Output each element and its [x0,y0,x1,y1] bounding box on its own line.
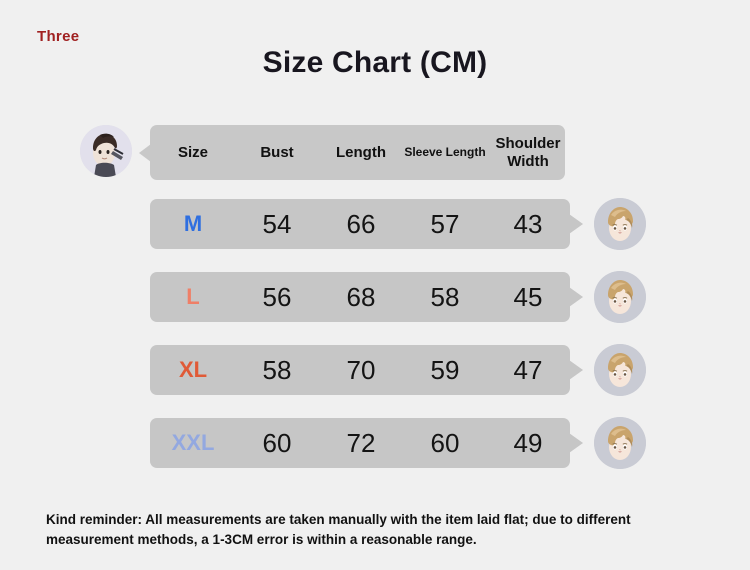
blonde-character-avatar-icon [594,198,646,250]
cell-length: 70 [318,355,404,386]
header-bar: Size Bust Length Sleeve Length Shoulder … [150,125,565,180]
cell-size: M [150,211,236,237]
left-pointer-icon [139,144,151,162]
blonde-character-avatar-icon [594,417,646,469]
size-row-bar: L 56 68 58 45 [150,272,570,322]
column-header-size: Size [150,144,236,161]
blonde-character-avatar-icon [594,271,646,323]
table-header-row: Size Bust Length Sleeve Length Shoulder … [0,125,750,180]
table-row: M 54 66 57 43 [0,199,750,249]
cell-shoulder-width: 47 [486,355,570,386]
cell-size: L [150,284,236,310]
cell-bust: 54 [236,209,318,240]
cell-sleeve-length: 59 [404,355,486,386]
right-pointer-icon [569,214,583,234]
size-row-bar: XXL 60 72 60 49 [150,418,570,468]
table-row: XL 58 70 59 47 [0,345,750,395]
right-pointer-icon [569,287,583,307]
size-chart-table: Size Bust Length Sleeve Length Shoulder … [0,125,750,491]
cell-bust: 58 [236,355,318,386]
cell-sleeve-length: 60 [404,428,486,459]
brand-label: Three [37,28,79,45]
right-pointer-icon [569,360,583,380]
cell-size: XXL [150,430,236,456]
cell-sleeve-length: 58 [404,282,486,313]
cell-length: 72 [318,428,404,459]
column-header-shoulder-width: Shoulder Width [486,135,570,170]
table-row: L 56 68 58 45 [0,272,750,322]
cell-shoulder-width: 45 [486,282,570,313]
cell-size: XL [150,357,236,383]
column-header-sleeve-length: Sleeve Length [404,146,486,160]
column-header-bust: Bust [236,144,318,161]
blonde-character-avatar-icon [594,344,646,396]
cell-shoulder-width: 43 [486,209,570,240]
measurement-disclaimer: Kind reminder: All measurements are take… [46,510,706,551]
cell-bust: 60 [236,428,318,459]
size-row-bar: XL 58 70 59 47 [150,345,570,395]
size-row-bar: M 54 66 57 43 [150,199,570,249]
cell-sleeve-length: 57 [404,209,486,240]
table-row: XXL 60 72 60 49 [0,418,750,468]
page-title: Size Chart (CM) [0,46,750,80]
right-pointer-icon [569,433,583,453]
cell-length: 68 [318,282,404,313]
cell-bust: 56 [236,282,318,313]
cell-shoulder-width: 49 [486,428,570,459]
column-header-length: Length [318,144,404,161]
dark-haired-character-avatar-icon [80,125,132,177]
cell-length: 66 [318,209,404,240]
